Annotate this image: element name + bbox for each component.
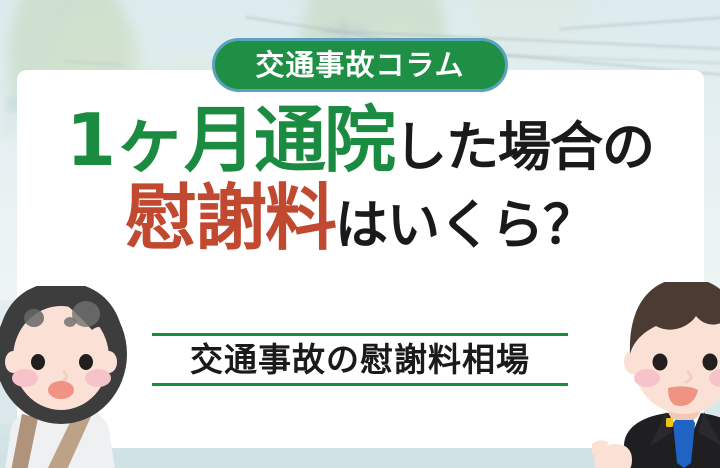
subtitle-text: 交通事故の慰謝料相場	[152, 336, 568, 383]
page-title: 1ヶ月通院した場合の 慰謝料はいくら？	[0, 104, 720, 254]
banner-canvas: 交通事故コラム 1ヶ月通院した場合の 慰謝料はいくら？ 交通事故の慰謝料相場	[0, 0, 720, 468]
category-badge-label: 交通事故コラム	[255, 51, 464, 80]
title-highlight-duration: 1ヶ月通院	[66, 98, 394, 182]
subtitle-block: 交通事故の慰謝料相場	[152, 333, 568, 386]
title-line-2: 慰謝料はいくら？	[0, 182, 720, 254]
title-line-1: 1ヶ月通院した場合の	[0, 104, 720, 176]
title-line-2-rest: はいくら？	[335, 195, 595, 256]
subtitle-rule-bottom	[152, 383, 568, 386]
category-badge: 交通事故コラム	[212, 38, 508, 92]
title-highlight-compensation: 慰謝料	[125, 176, 335, 260]
title-line-1-rest: した場合の	[394, 117, 654, 178]
